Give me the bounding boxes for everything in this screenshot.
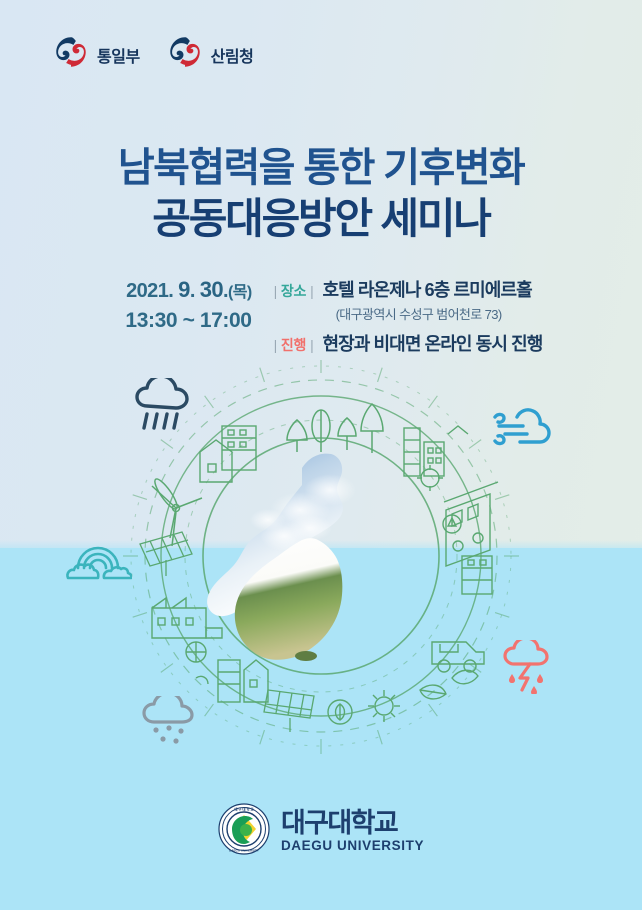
university-name-ko: 대구대학교 <box>281 810 424 837</box>
ring-eco-car <box>432 642 484 672</box>
ring-solar-panel <box>140 532 192 576</box>
snow-cloud-icon <box>138 696 200 751</box>
mode-tag: | 진행 | <box>274 335 314 355</box>
university-logo: 대 구 대 학 교 DAEGU UNIVERSITY 대구대학교 DAEGU U… <box>0 803 642 860</box>
place-tag-label: 장소 <box>281 281 306 301</box>
poster-title: 남북협력을 통한 기후변화 공동대응방안 세미나 <box>0 146 642 243</box>
jeju-island <box>295 651 317 661</box>
date-dot-1: . <box>190 280 195 302</box>
university-name: 대구대학교 DAEGU UNIVERSITY <box>281 810 424 853</box>
org-forest-service: 산림청 <box>166 33 254 76</box>
thunderstorm-icon <box>500 640 556 699</box>
ring-train <box>444 482 498 566</box>
mode-tag-label: 진행 <box>281 335 306 355</box>
title-line-1: 남북협력을 통한 기후변화 <box>0 146 642 191</box>
place-value: 호텔 라온제나 6층 르미에르홀 <box>322 276 531 302</box>
date-year: 2021. <box>126 280 173 302</box>
event-details: | 장소 | 호텔 라온제나 6층 르미에르홀 (대구광역시 수성구 범어천로 … <box>274 276 543 356</box>
org-unification-ministry: 통일부 <box>52 33 140 76</box>
ring-city-bottomleft <box>196 660 268 702</box>
place-tag: | 장소 | <box>274 281 314 301</box>
date-day-of-week: (목) <box>228 284 252 301</box>
ring-buildings-topleft <box>200 426 256 482</box>
tag-bar-right: | <box>310 283 313 299</box>
ring-building-right <box>443 515 492 594</box>
wind-cloud-icon <box>489 405 551 454</box>
tag-bar-right: | <box>310 337 313 353</box>
ring-trees <box>287 404 383 453</box>
rain-cloud-icon <box>133 378 195 441</box>
government-logo-row: 통일부 산림청 <box>52 33 253 76</box>
org-label: 통일부 <box>97 43 140 67</box>
ring-leaf-circle <box>328 700 352 724</box>
org-label: 산림청 <box>211 43 254 67</box>
event-time: 13:30 ~ 17:00 <box>100 309 252 333</box>
daegu-university-emblem-icon: 대 구 대 학 교 DAEGU UNIVERSITY <box>218 803 270 860</box>
event-info-block: 2021. 9. 30.(목) 13:30 ~ 17:00 | 장소 | 호텔 … <box>0 276 642 356</box>
title-line-2: 공동대응방안 세미나 <box>0 195 642 243</box>
ring-sun-icon <box>368 690 400 722</box>
korea-government-taegeuk-icon <box>166 33 204 76</box>
ring-buildings-topright <box>404 426 468 476</box>
ring-solar-farm <box>264 690 314 732</box>
university-name-en: DAEGU UNIVERSITY <box>281 839 424 853</box>
event-date: 2021. 9. 30.(목) <box>100 277 252 303</box>
tag-bar-left: | <box>274 283 277 299</box>
ring-gear <box>417 465 443 491</box>
svg-text:DAEGU UNIVERSITY: DAEGU UNIVERSITY <box>229 849 259 853</box>
mode-value: 현장과 비대면 온라인 동시 진행 <box>322 330 542 356</box>
event-datetime: 2021. 9. 30.(목) 13:30 ~ 17:00 <box>100 276 252 333</box>
place-address: (대구광역시 수성구 범어천로 73) <box>336 304 543 323</box>
korea-government-taegeuk-icon <box>52 33 90 76</box>
event-mode-row: | 진행 | 현장과 비대면 온라인 동시 진행 <box>274 330 543 356</box>
poster-canvas: 통일부 산림청 남북협력을 통한 기후변화 공동대응방안 세미나 2021. 9… <box>0 0 642 910</box>
tag-bar-left: | <box>274 337 277 353</box>
svg-text:대 구 대 학 교: 대 구 대 학 교 <box>234 807 253 812</box>
date-month: 9 <box>178 277 190 302</box>
rainbow-cloud-icon <box>64 534 132 587</box>
event-place-row: | 장소 | 호텔 라온제나 6층 르미에르홀 <box>274 276 543 302</box>
date-day: 30 <box>200 277 223 302</box>
